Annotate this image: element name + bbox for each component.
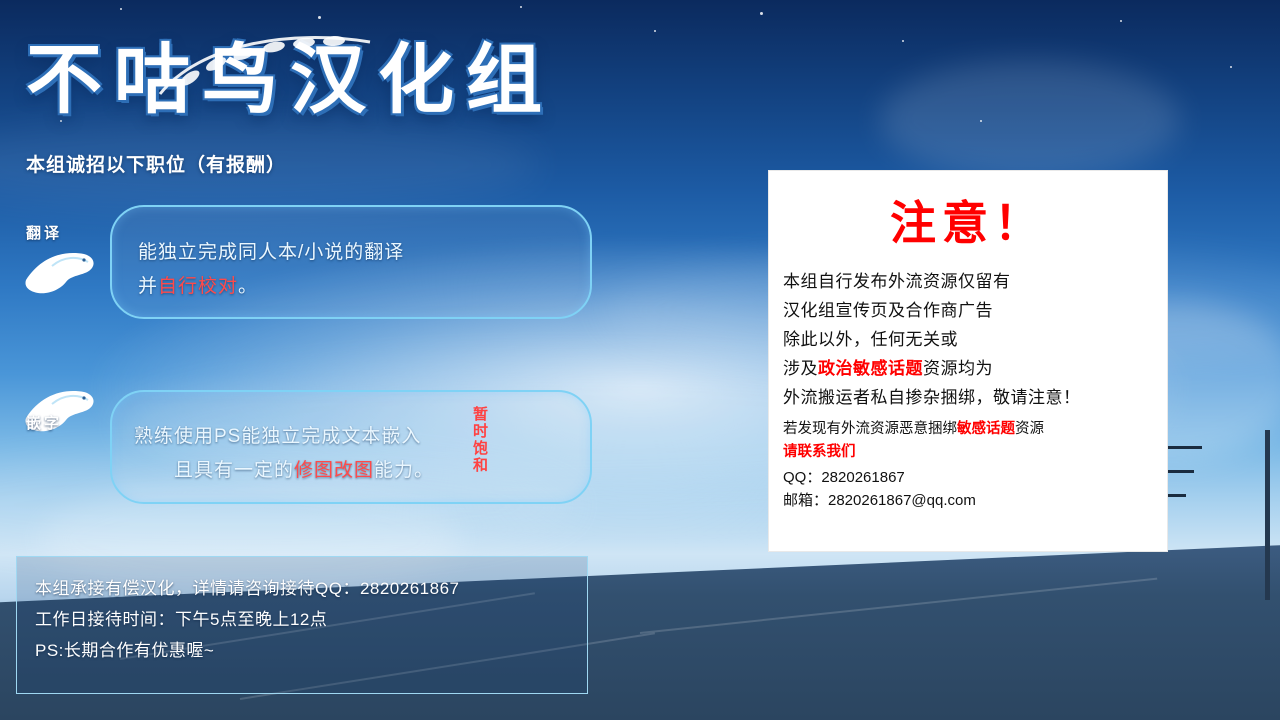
cloud [880,60,1180,180]
role-desc-line2-highlight: 修图改图 [294,460,374,481]
notice-body-line4-highlight: 政治敏感话题 [818,359,923,378]
notice-subtext-line: 若发现有外流资源恶意捆绑敏感话题资源 [783,418,1153,441]
role-desc-line2-suffix: 能力。 [374,460,434,481]
notice-body-line: 除此以外，任何无关或 [783,325,1153,354]
star [760,12,763,15]
notice-body-line: 外流搬运者私自掺杂捆绑，敬请注意！ [783,383,1153,412]
role-desc-line2-suffix: 。 [238,276,258,297]
star [902,40,904,42]
dove-icon [22,240,100,302]
star [520,6,522,8]
role-desc-line2-prefix: 并 [138,276,158,297]
footer-line-1: 本组承接有偿汉化，详情请咨询接待QQ：2820261867 [17,557,587,604]
footer-line-3: PS:长期合作有优惠喔~ [17,635,587,666]
notice-subtext: 若发现有外流资源恶意捆绑敏感话题资源 请联系我们 [769,412,1167,464]
notice-body: 本组自行发布外流资源仅留有 汉化组宣传页及合作商广告 除此以外，任何无关或 涉及… [769,267,1167,412]
role-desc-line2-prefix: 且具有一定的 [174,460,294,481]
star [1230,66,1232,68]
notice-body-line: 涉及政治敏感话题资源均为 [783,354,1153,383]
utility-pole [1265,430,1270,600]
role-desc-line1: 能独立完成同人本/小说的翻译 [138,236,568,270]
poster-root: 不咕鸟汉化组 本组诚招以下职位（有报酬） 翻译 能独立完成同人本/小说的翻译 并… [0,0,1280,720]
role-desc-line2: 并自行校对。 [138,270,568,304]
star [654,30,656,32]
role-tag-typesetter: 嵌字 [26,412,62,433]
role-desc-line1: 熟练使用PS能独立完成文本嵌入 [134,420,474,454]
page-title: 不咕鸟汉化组 [26,18,554,128]
notice-body-line4-prefix: 涉及 [783,359,818,378]
footer-line-2: 工作日接待时间：下午5点至晚上12点 [17,604,587,635]
role-desc-typesetter: 熟练使用PS能独立完成文本嵌入 且具有一定的修图改图能力。 [134,420,474,488]
notice-sub-suffix: 资源 [1015,421,1044,437]
star [980,120,982,122]
role-desc-line2-highlight: 自行校对 [158,276,238,297]
role-tag-translator: 翻译 [26,222,62,243]
star [1120,20,1122,22]
role-desc-translator: 能独立完成同人本/小说的翻译 并自行校对。 [138,236,568,304]
role-desc-line2: 且具有一定的修图改图能力。 [134,454,474,488]
notice-qq: QQ：2820261867 [783,466,1153,489]
notice-sub-prefix: 若发现有外流资源恶意捆绑 [783,421,957,437]
notice-body-line: 本组自行发布外流资源仅留有 [783,267,1153,296]
footer-panel: 本组承接有偿汉化，详情请咨询接待QQ：2820261867 工作日接待时间：下午… [16,556,588,694]
notice-sub-highlight: 敏感话题 [957,421,1015,437]
notice-email: 邮箱：2820261867@qq.com [783,489,1153,512]
notice-title: 注意！ [769,187,1167,253]
notice-panel: 注意！ 本组自行发布外流资源仅留有 汉化组宣传页及合作商广告 除此以外，任何无关… [768,170,1168,552]
notice-contact-us: 请联系我们 [783,441,1153,464]
notice-body-line4-suffix: 资源均为 [923,359,993,378]
recruit-heading: 本组诚招以下职位（有报酬） [26,150,286,177]
notice-contact-block: QQ：2820261867 邮箱：2820261867@qq.com [769,464,1167,512]
star [120,8,122,10]
notice-body-line: 汉化组宣传页及合作商广告 [783,296,1153,325]
role-side-note: 暂时饱和 [472,406,489,474]
